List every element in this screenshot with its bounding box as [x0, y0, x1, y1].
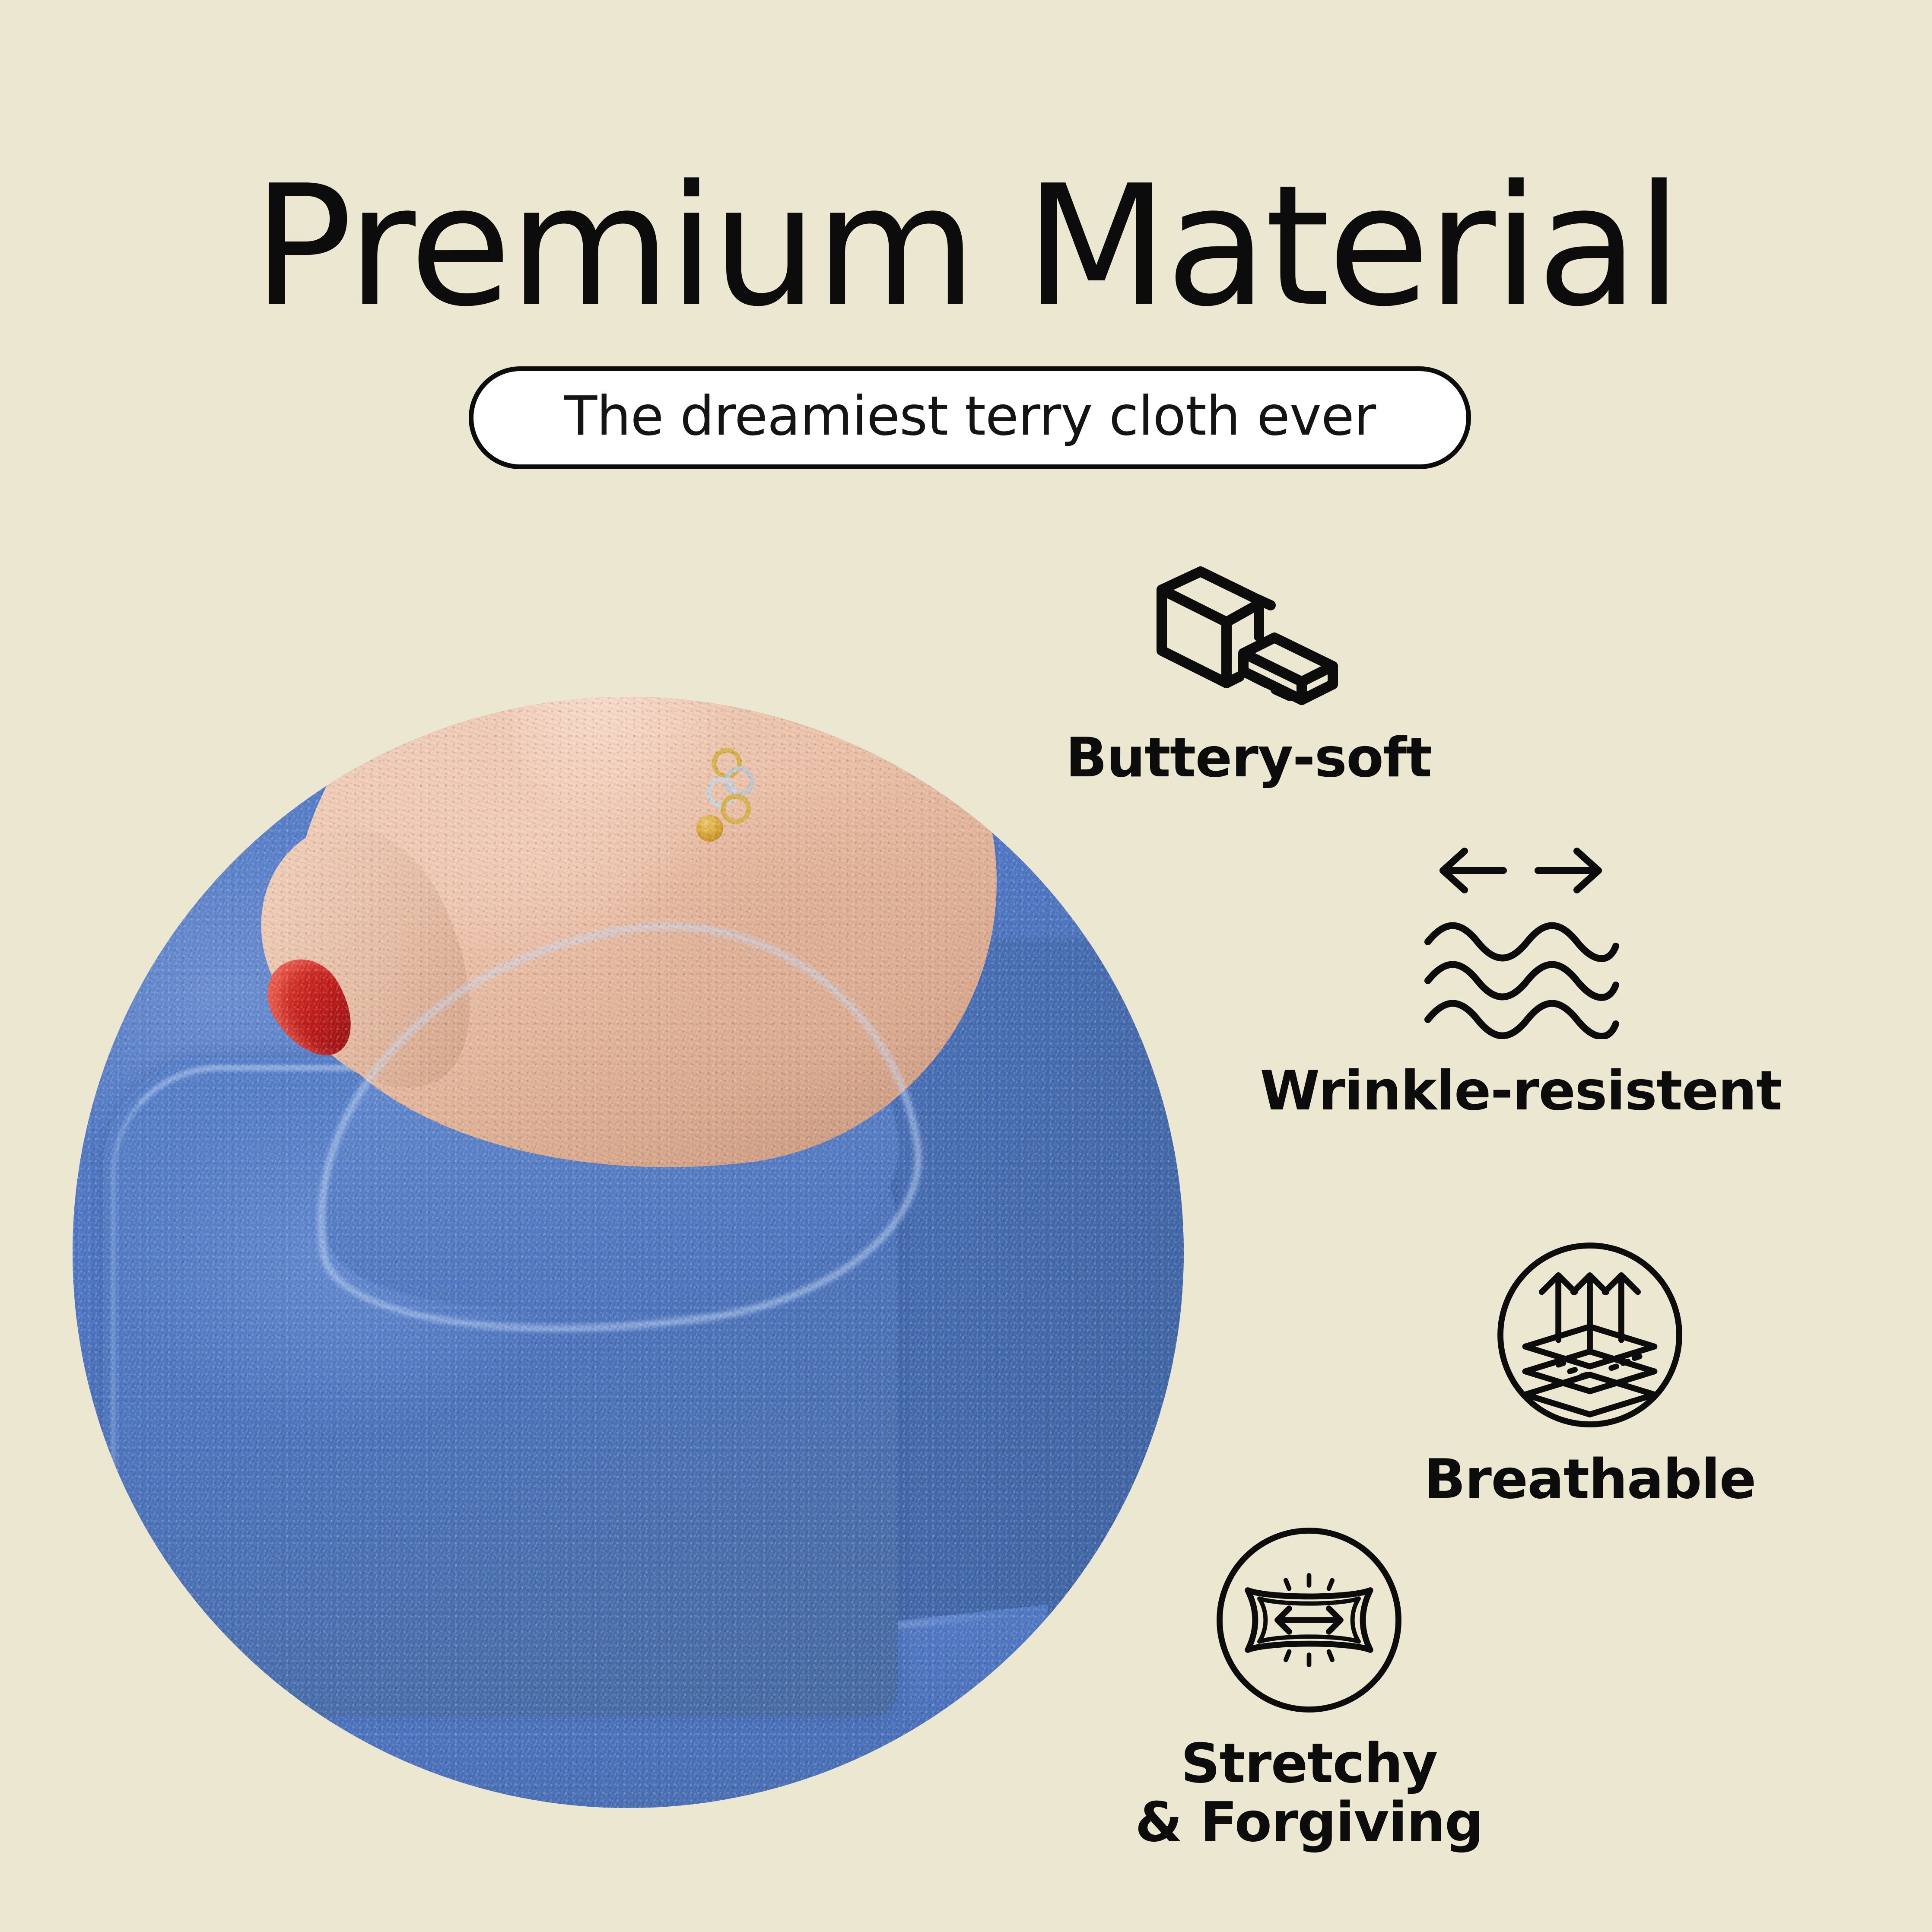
- feature-label: Buttery-soft: [1066, 728, 1432, 787]
- stretch-fabric-icon: [1210, 1521, 1408, 1719]
- feature-label: Wrinkle-resistent: [1260, 1061, 1781, 1120]
- subtitle-pill: The dreamiest terry cloth ever: [469, 366, 1471, 469]
- feature-label: Stretchy & Forgiving: [1135, 1734, 1483, 1852]
- feature-stretchy-forgiving: Stretchy & Forgiving: [998, 1521, 1620, 1852]
- feature-wrinkle-resistent: Wrinkle-resistent: [1166, 845, 1875, 1120]
- page-title: Premium Material: [0, 163, 1932, 330]
- feature-breathable: Breathable: [1266, 1236, 1914, 1509]
- feature-buttery-soft: Buttery-soft: [963, 565, 1534, 787]
- wavy-lines-arrows-icon: [1400, 845, 1642, 1039]
- promo-graphic: Premium Material The dreamiest terry clo…: [0, 0, 1932, 1932]
- butter-blocks-icon: [1145, 565, 1352, 708]
- breathable-layers-icon: [1490, 1236, 1689, 1434]
- feature-label: Breathable: [1424, 1450, 1755, 1509]
- subtitle-text: The dreamiest terry cloth ever: [564, 389, 1376, 443]
